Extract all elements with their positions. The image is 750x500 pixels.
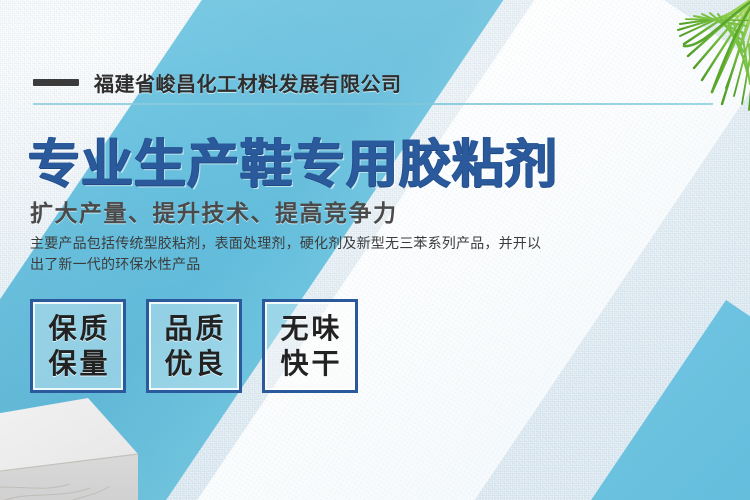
feature-box-line-2: 快干 bbox=[277, 347, 342, 381]
feature-box-quality-guarantee: 保质 保量 bbox=[30, 299, 126, 393]
feature-box-superior-quality: 品质 优良 bbox=[146, 299, 242, 393]
promo-banner: 福建省峻昌化工材料发展有限公司 专业生产鞋专用胶粘剂 扩大产量、提升技术、提高竞… bbox=[0, 0, 750, 500]
feature-box-odorless-fastdry: 无味 快干 bbox=[262, 299, 358, 393]
company-name: 福建省峻昌化工材料发展有限公司 bbox=[94, 68, 402, 97]
feature-box-line-2: 优良 bbox=[161, 347, 226, 381]
accent-dash-icon bbox=[33, 79, 79, 86]
body-line-2: 出了新一代的环保水性产品 bbox=[30, 254, 550, 275]
headline: 专业生产鞋专用胶粘剂 bbox=[28, 122, 558, 197]
divider-rule bbox=[33, 103, 713, 105]
feature-box-line-1: 保质 bbox=[45, 312, 110, 346]
subheadline: 扩大产量、提升技术、提高竞争力 bbox=[30, 194, 398, 228]
banner-content: 福建省峻昌化工材料发展有限公司 专业生产鞋专用胶粘剂 扩大产量、提升技术、提高竞… bbox=[0, 0, 750, 500]
company-row: 福建省峻昌化工材料发展有限公司 bbox=[33, 68, 402, 97]
feature-box-line-1: 品质 bbox=[161, 312, 226, 346]
body-description: 主要产品包括传统型胶粘剂，表面处理剂，硬化剂及新型无三苯系列产品，并开以 出了新… bbox=[30, 233, 550, 275]
feature-box-line-1: 无味 bbox=[277, 312, 342, 346]
body-line-1: 主要产品包括传统型胶粘剂，表面处理剂，硬化剂及新型无三苯系列产品，并开以 bbox=[30, 233, 550, 254]
feature-box-line-2: 保量 bbox=[45, 347, 110, 381]
feature-box-group: 保质 保量 品质 优良 无味 快干 bbox=[30, 299, 358, 393]
